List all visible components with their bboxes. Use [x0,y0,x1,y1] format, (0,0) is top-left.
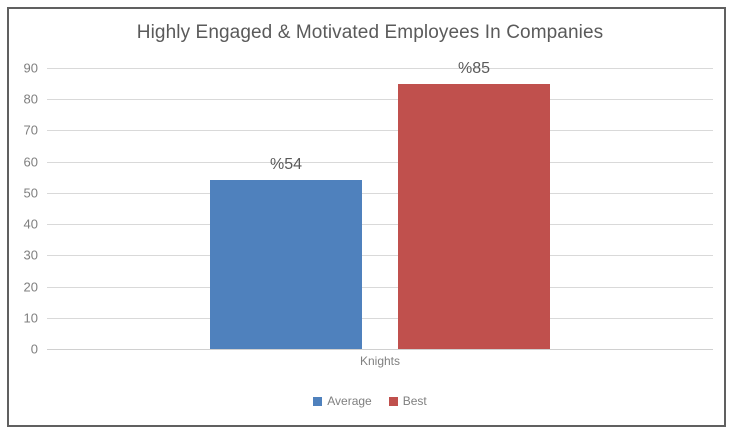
y-axis-tick-label-70: 70 [24,123,38,138]
gridline-40: 40 [47,224,713,225]
bar-average[interactable] [210,180,362,349]
bar-value-label-best: %85 [458,60,490,78]
chart-title: Highly Engaged & Motivated Employees In … [0,22,740,44]
y-axis-tick-label-30: 30 [24,248,38,263]
plot-area: 9080706050403020100%54%85 [47,68,713,349]
category-label-knights: Knights [360,354,400,368]
gridline-50: 50 [47,193,713,194]
x-axis-category-label: Knights [0,354,740,368]
bar-value-label-average: %54 [270,156,302,174]
y-axis-tick-label-80: 80 [24,92,38,107]
gridline-20: 20 [47,287,713,288]
y-axis-tick-label-60: 60 [24,154,38,169]
chart-container: Highly Engaged & Motivated Employees In … [0,0,740,437]
legend-item-best[interactable]: Best [389,394,427,408]
gridline-70: 70 [47,130,713,131]
y-axis-tick-label-20: 20 [24,279,38,294]
gridline-90: 90 [47,68,713,69]
legend-item-average[interactable]: Average [313,394,371,408]
gridline-80: 80 [47,99,713,100]
gridline-10: 10 [47,318,713,319]
chart-legend: Average Best [0,394,740,408]
y-axis-tick-label-40: 40 [24,217,38,232]
gridline-0: 0 [47,349,713,350]
legend-label-average: Average [327,394,371,408]
legend-swatch-best-icon [389,397,398,406]
legend-swatch-average-icon [313,397,322,406]
legend-label-best: Best [403,394,427,408]
gridline-30: 30 [47,255,713,256]
y-axis-tick-label-50: 50 [24,185,38,200]
bar-best[interactable] [398,84,550,349]
gridline-60: 60 [47,162,713,163]
y-axis-tick-label-90: 90 [24,61,38,76]
y-axis-tick-label-10: 10 [24,310,38,325]
